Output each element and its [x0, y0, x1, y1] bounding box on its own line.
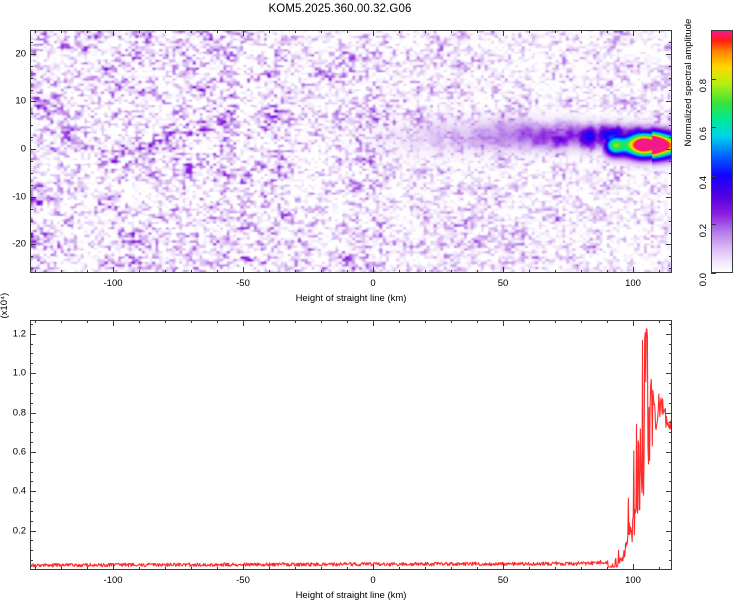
colorbar-axis-title: Normalized spectral amplitude [683, 18, 694, 146]
spectrogram-yticklabel: -20 [4, 239, 26, 250]
spectrogram-xticklabel: 100 [625, 278, 641, 289]
colorbar-tick [711, 79, 716, 80]
spectrogram-xtick-minor-top [347, 30, 348, 33]
snr-ytick [30, 413, 36, 414]
spectrogram-xtick [113, 267, 114, 273]
spectrogram-xtick-minor-top [165, 30, 166, 33]
spectrogram-yticklabel: 10 [4, 96, 26, 107]
snr-ytick-minor [30, 363, 33, 364]
spectrogram-xticklabel: 50 [498, 278, 509, 289]
snr-ytick-minor [30, 521, 33, 522]
snr-xtick-minor-top [347, 320, 348, 323]
spectrogram-ytick-minor-right [669, 113, 672, 114]
snr-ytick-minor [30, 403, 33, 404]
spectrogram-canvas [31, 31, 671, 272]
spectrogram-xtick-minor [529, 270, 530, 273]
spectrogram-ytick [30, 197, 36, 198]
colorbar-tick [711, 176, 716, 177]
spectrogram-image [31, 31, 671, 272]
spectrogram-xtick-minor-top [35, 30, 36, 33]
snr-ytick-minor-right [669, 462, 672, 463]
spectrogram-ytick-minor-right [669, 78, 672, 79]
spectrogram-ytick [30, 101, 36, 102]
spectrogram-xticklabel: -100 [103, 278, 122, 289]
snr-xtick-minor [555, 567, 556, 570]
snr-xtick-minor [451, 567, 452, 570]
snr-ytick-minor [30, 432, 33, 433]
spectrogram-yticklabel: -10 [4, 192, 26, 203]
spectrogram-xtick-minor [165, 270, 166, 273]
colorbar-gradient [712, 31, 732, 272]
spectrogram-ytick-right [666, 54, 672, 55]
spectrogram-xtick-minor [607, 270, 608, 273]
spectrogram-xtick-minor-top [529, 30, 530, 33]
snr-plot-area [31, 321, 671, 569]
spectrogram-xtick-minor [425, 270, 426, 273]
spectrogram-xtick-minor-top [607, 30, 608, 33]
spectrogram-panel [30, 30, 672, 273]
figure-canvas: KOM5.2025.360.00.32.G06 Height of straig… [0, 0, 750, 600]
snr-ytick-minor [30, 472, 33, 473]
colorbar-ticklabel: 0.6 [698, 127, 709, 140]
snr-ytick-minor-right [669, 324, 672, 325]
snr-ytick-minor-right [669, 422, 672, 423]
snr-ytick-minor [30, 353, 33, 354]
snr-ytick-minor-right [669, 560, 672, 561]
snr-xticklabel: 50 [498, 575, 509, 586]
snr-xtick-minor [295, 567, 296, 570]
snr-xtick-top [113, 320, 114, 326]
snr-y-axis-multiplier: (x10⁴) [0, 293, 10, 319]
spectrogram-ytick-minor [30, 268, 33, 269]
colorbar-tick [711, 127, 716, 128]
snr-xtick-minor-top [425, 320, 426, 323]
spectrogram-xtick [243, 267, 244, 273]
snr-ytick-minor-right [669, 521, 672, 522]
spectrogram-xtick-minor [321, 270, 322, 273]
snr-xtick-minor-top [139, 320, 140, 323]
spectrogram-ytick-minor [30, 125, 33, 126]
snr-xtick [113, 564, 114, 570]
snr-line-series [31, 321, 671, 569]
spectrogram-xtick-minor [477, 270, 478, 273]
colorbar-ticklabel: 0.0 [698, 273, 709, 286]
spectrogram-ytick-right [666, 149, 672, 150]
snr-yticklabel: 0.8 [4, 408, 26, 419]
spectrogram-ytick [30, 54, 36, 55]
snr-ytick [30, 373, 36, 374]
spectrogram-xtick-minor-top [399, 30, 400, 33]
snr-yticklabel: 0.2 [4, 526, 26, 537]
snr-ytick-minor [30, 383, 33, 384]
spectrogram-ytick-minor-right [669, 161, 672, 162]
snr-xtick-minor [659, 567, 660, 570]
spectrogram-ytick [30, 149, 36, 150]
snr-ytick-minor [30, 481, 33, 482]
snr-xtick-top [503, 320, 504, 326]
spectrogram-xtick-top [373, 30, 374, 36]
snr-xtick-minor [477, 567, 478, 570]
snr-ytick-minor-right [669, 363, 672, 364]
snr-ytick-minor-right [669, 550, 672, 551]
spectrogram-ytick-minor-right [669, 125, 672, 126]
snr-ytick-minor-right [669, 432, 672, 433]
spectrogram-xtick-minor [35, 270, 36, 273]
snr-xticklabel: 100 [625, 575, 641, 586]
spectrogram-ytick-right [666, 101, 672, 102]
spectrogram-xtick-minor [217, 270, 218, 273]
snr-xtick-minor [321, 567, 322, 570]
snr-xtick-top [373, 320, 374, 326]
snr-xtick-minor [35, 567, 36, 570]
spectrogram-xtick [503, 267, 504, 273]
spectrogram-ytick-minor-right [669, 42, 672, 43]
snr-ytick [30, 452, 36, 453]
snr-xtick-minor-top [555, 320, 556, 323]
snr-ytick-minor-right [669, 511, 672, 512]
figure-title: KOM5.2025.360.00.32.G06 [0, 3, 680, 15]
snr-yticklabel: 1.0 [4, 368, 26, 379]
snr-ytick-right [666, 531, 672, 532]
snr-xtick-minor [399, 567, 400, 570]
snr-xtick-minor [165, 567, 166, 570]
snr-xticklabel: -50 [236, 575, 250, 586]
snr-ytick-minor [30, 344, 33, 345]
colorbar-ticklabel: 0.2 [698, 224, 709, 237]
colorbar-ticklabel: 0.8 [698, 79, 709, 92]
spectrogram-xticklabel: -50 [236, 278, 250, 289]
spectrogram-xtick-minor-top [555, 30, 556, 33]
snr-xtick-minor-top [35, 320, 36, 323]
spectrogram-ytick-right [666, 197, 672, 198]
spectrogram-ytick-right [666, 244, 672, 245]
spectrogram-ytick-minor [30, 173, 33, 174]
spectrogram-xtick-minor [659, 270, 660, 273]
snr-xtick [503, 564, 504, 570]
spectrogram-ytick-minor [30, 161, 33, 162]
snr-ytick-right [666, 413, 672, 414]
snr-ytick [30, 334, 36, 335]
snr-xtick-minor [61, 567, 62, 570]
spectrogram-ytick-minor [30, 66, 33, 67]
snr-xtick-minor-top [451, 320, 452, 323]
snr-ytick-minor [30, 560, 33, 561]
snr-xtick-top [243, 320, 244, 326]
spectrogram-ytick-minor-right [669, 256, 672, 257]
snr-xticklabel: -100 [103, 575, 122, 586]
snr-ytick-right [666, 334, 672, 335]
spectrogram-ytick-minor-right [669, 221, 672, 222]
snr-xtick-minor [607, 567, 608, 570]
snr-ytick-minor [30, 550, 33, 551]
spectrogram-ytick-minor [30, 185, 33, 186]
snr-xtick-minor-top [477, 320, 478, 323]
snr-ytick-right [666, 452, 672, 453]
snr-ytick-minor [30, 462, 33, 463]
spectrogram-ytick-minor-right [669, 66, 672, 67]
colorbar-tick [711, 224, 716, 225]
snr-ytick-minor-right [669, 344, 672, 345]
spectrogram-xtick-minor [61, 270, 62, 273]
spectrogram-ytick-minor [30, 233, 33, 234]
spectrogram-xtick-minor-top [87, 30, 88, 33]
snr-ytick-minor-right [669, 393, 672, 394]
spectrogram-ytick-minor-right [669, 268, 672, 269]
snr-ytick-minor [30, 393, 33, 394]
snr-ytick [30, 531, 36, 532]
snr-xtick-minor-top [269, 320, 270, 323]
spectrogram-xtick-minor-top [477, 30, 478, 33]
spectrogram-xtick-minor-top [425, 30, 426, 33]
snr-xtick-top [633, 320, 634, 326]
spectrogram-xtick-minor-top [269, 30, 270, 33]
snr-xtick-minor-top [399, 320, 400, 323]
spectrogram-xtick-minor [191, 270, 192, 273]
colorbar-tick [711, 273, 716, 274]
snr-ytick-minor-right [669, 442, 672, 443]
snr-xtick-minor-top [607, 320, 608, 323]
snr-ytick-minor-right [669, 472, 672, 473]
spectrogram-yticklabel: 0 [4, 144, 26, 155]
spectrogram-xtick [633, 267, 634, 273]
snr-ytick-minor [30, 442, 33, 443]
spectrogram-x-axis-title: Height of straight line (km) [296, 293, 407, 304]
spectrogram-xtick-minor [555, 270, 556, 273]
spectrogram-ytick-minor [30, 221, 33, 222]
snr-xtick-minor [425, 567, 426, 570]
snr-xtick-minor-top [61, 320, 62, 323]
snr-xtick [373, 564, 374, 570]
snr-xtick [243, 564, 244, 570]
snr-ytick-minor-right [669, 383, 672, 384]
snr-yticklabel: 0.6 [4, 447, 26, 458]
spectrogram-xtick [373, 267, 374, 273]
spectrogram-xtick-minor [295, 270, 296, 273]
snr-yticklabel: 0.4 [4, 486, 26, 497]
snr-xtick-minor-top [529, 320, 530, 323]
snr-xtick-minor [529, 567, 530, 570]
spectrogram-ytick-minor [30, 42, 33, 43]
spectrogram-ytick-minor [30, 137, 33, 138]
spectrogram-ytick-minor-right [669, 137, 672, 138]
spectrogram-ytick [30, 244, 36, 245]
snr-ytick-minor-right [669, 481, 672, 482]
snr-xtick-minor-top [581, 320, 582, 323]
snr-ytick-minor [30, 422, 33, 423]
spectrogram-xtick-minor-top [581, 30, 582, 33]
snr-ytick-minor-right [669, 403, 672, 404]
spectrogram-xtick-minor [87, 270, 88, 273]
spectrogram-xtick-top [503, 30, 504, 36]
snr-xtick-minor [217, 567, 218, 570]
spectrogram-xtick-minor-top [295, 30, 296, 33]
spectrogram-xtick-minor-top [659, 30, 660, 33]
spectrogram-ytick-minor-right [669, 185, 672, 186]
snr-ytick-minor [30, 511, 33, 512]
snr-panel [30, 320, 672, 570]
spectrogram-ytick-minor-right [669, 233, 672, 234]
spectrogram-xtick-minor-top [61, 30, 62, 33]
snr-xtick-minor-top [321, 320, 322, 323]
spectrogram-xtick-minor [399, 270, 400, 273]
snr-yticklabel: 1.2 [4, 329, 26, 340]
snr-xticklabel: 0 [370, 575, 375, 586]
colorbar [711, 30, 733, 273]
spectrogram-xtick-top [243, 30, 244, 36]
spectrogram-xtick-minor-top [217, 30, 218, 33]
snr-x-axis-title: Height of straight line (km) [296, 590, 407, 601]
spectrogram-ytick-minor [30, 209, 33, 210]
spectrogram-yticklabel: 20 [4, 49, 26, 60]
spectrogram-xtick-minor [451, 270, 452, 273]
snr-xtick-minor [581, 567, 582, 570]
spectrogram-ytick-minor-right [669, 90, 672, 91]
colorbar-ticklabel: 0.4 [698, 176, 709, 189]
snr-trace-path [31, 329, 671, 567]
spectrogram-xtick-minor-top [321, 30, 322, 33]
snr-ytick-right [666, 491, 672, 492]
snr-ytick-minor [30, 324, 33, 325]
spectrogram-xtick-minor [347, 270, 348, 273]
snr-xtick-minor [87, 567, 88, 570]
spectrogram-xtick-minor-top [139, 30, 140, 33]
snr-xtick [633, 564, 634, 570]
snr-xtick-minor [347, 567, 348, 570]
snr-ytick-minor-right [669, 540, 672, 541]
spectrogram-ytick-minor-right [669, 173, 672, 174]
spectrogram-xtick-top [113, 30, 114, 36]
snr-ytick [30, 491, 36, 492]
snr-xtick-minor-top [659, 320, 660, 323]
spectrogram-xtick-minor [581, 270, 582, 273]
snr-xtick-minor-top [295, 320, 296, 323]
spectrogram-xtick-minor-top [451, 30, 452, 33]
spectrogram-ytick-minor [30, 256, 33, 257]
spectrogram-ytick-minor-right [669, 209, 672, 210]
snr-ytick-minor [30, 501, 33, 502]
snr-xtick-minor [191, 567, 192, 570]
spectrogram-ytick-minor [30, 113, 33, 114]
snr-ytick-minor-right [669, 353, 672, 354]
snr-xtick-minor-top [87, 320, 88, 323]
spectrogram-xtick-minor-top [191, 30, 192, 33]
snr-xtick-minor [139, 567, 140, 570]
spectrogram-xticklabel: 0 [370, 278, 375, 289]
snr-xtick-minor-top [217, 320, 218, 323]
spectrogram-xtick-top [633, 30, 634, 36]
spectrogram-ytick-minor [30, 78, 33, 79]
spectrogram-xtick-minor [139, 270, 140, 273]
snr-xtick-minor-top [165, 320, 166, 323]
snr-xtick-minor-top [191, 320, 192, 323]
snr-ytick-minor-right [669, 501, 672, 502]
snr-ytick-right [666, 373, 672, 374]
spectrogram-ytick-minor [30, 90, 33, 91]
spectrogram-xtick-minor [269, 270, 270, 273]
snr-xtick-minor [269, 567, 270, 570]
snr-ytick-minor [30, 540, 33, 541]
